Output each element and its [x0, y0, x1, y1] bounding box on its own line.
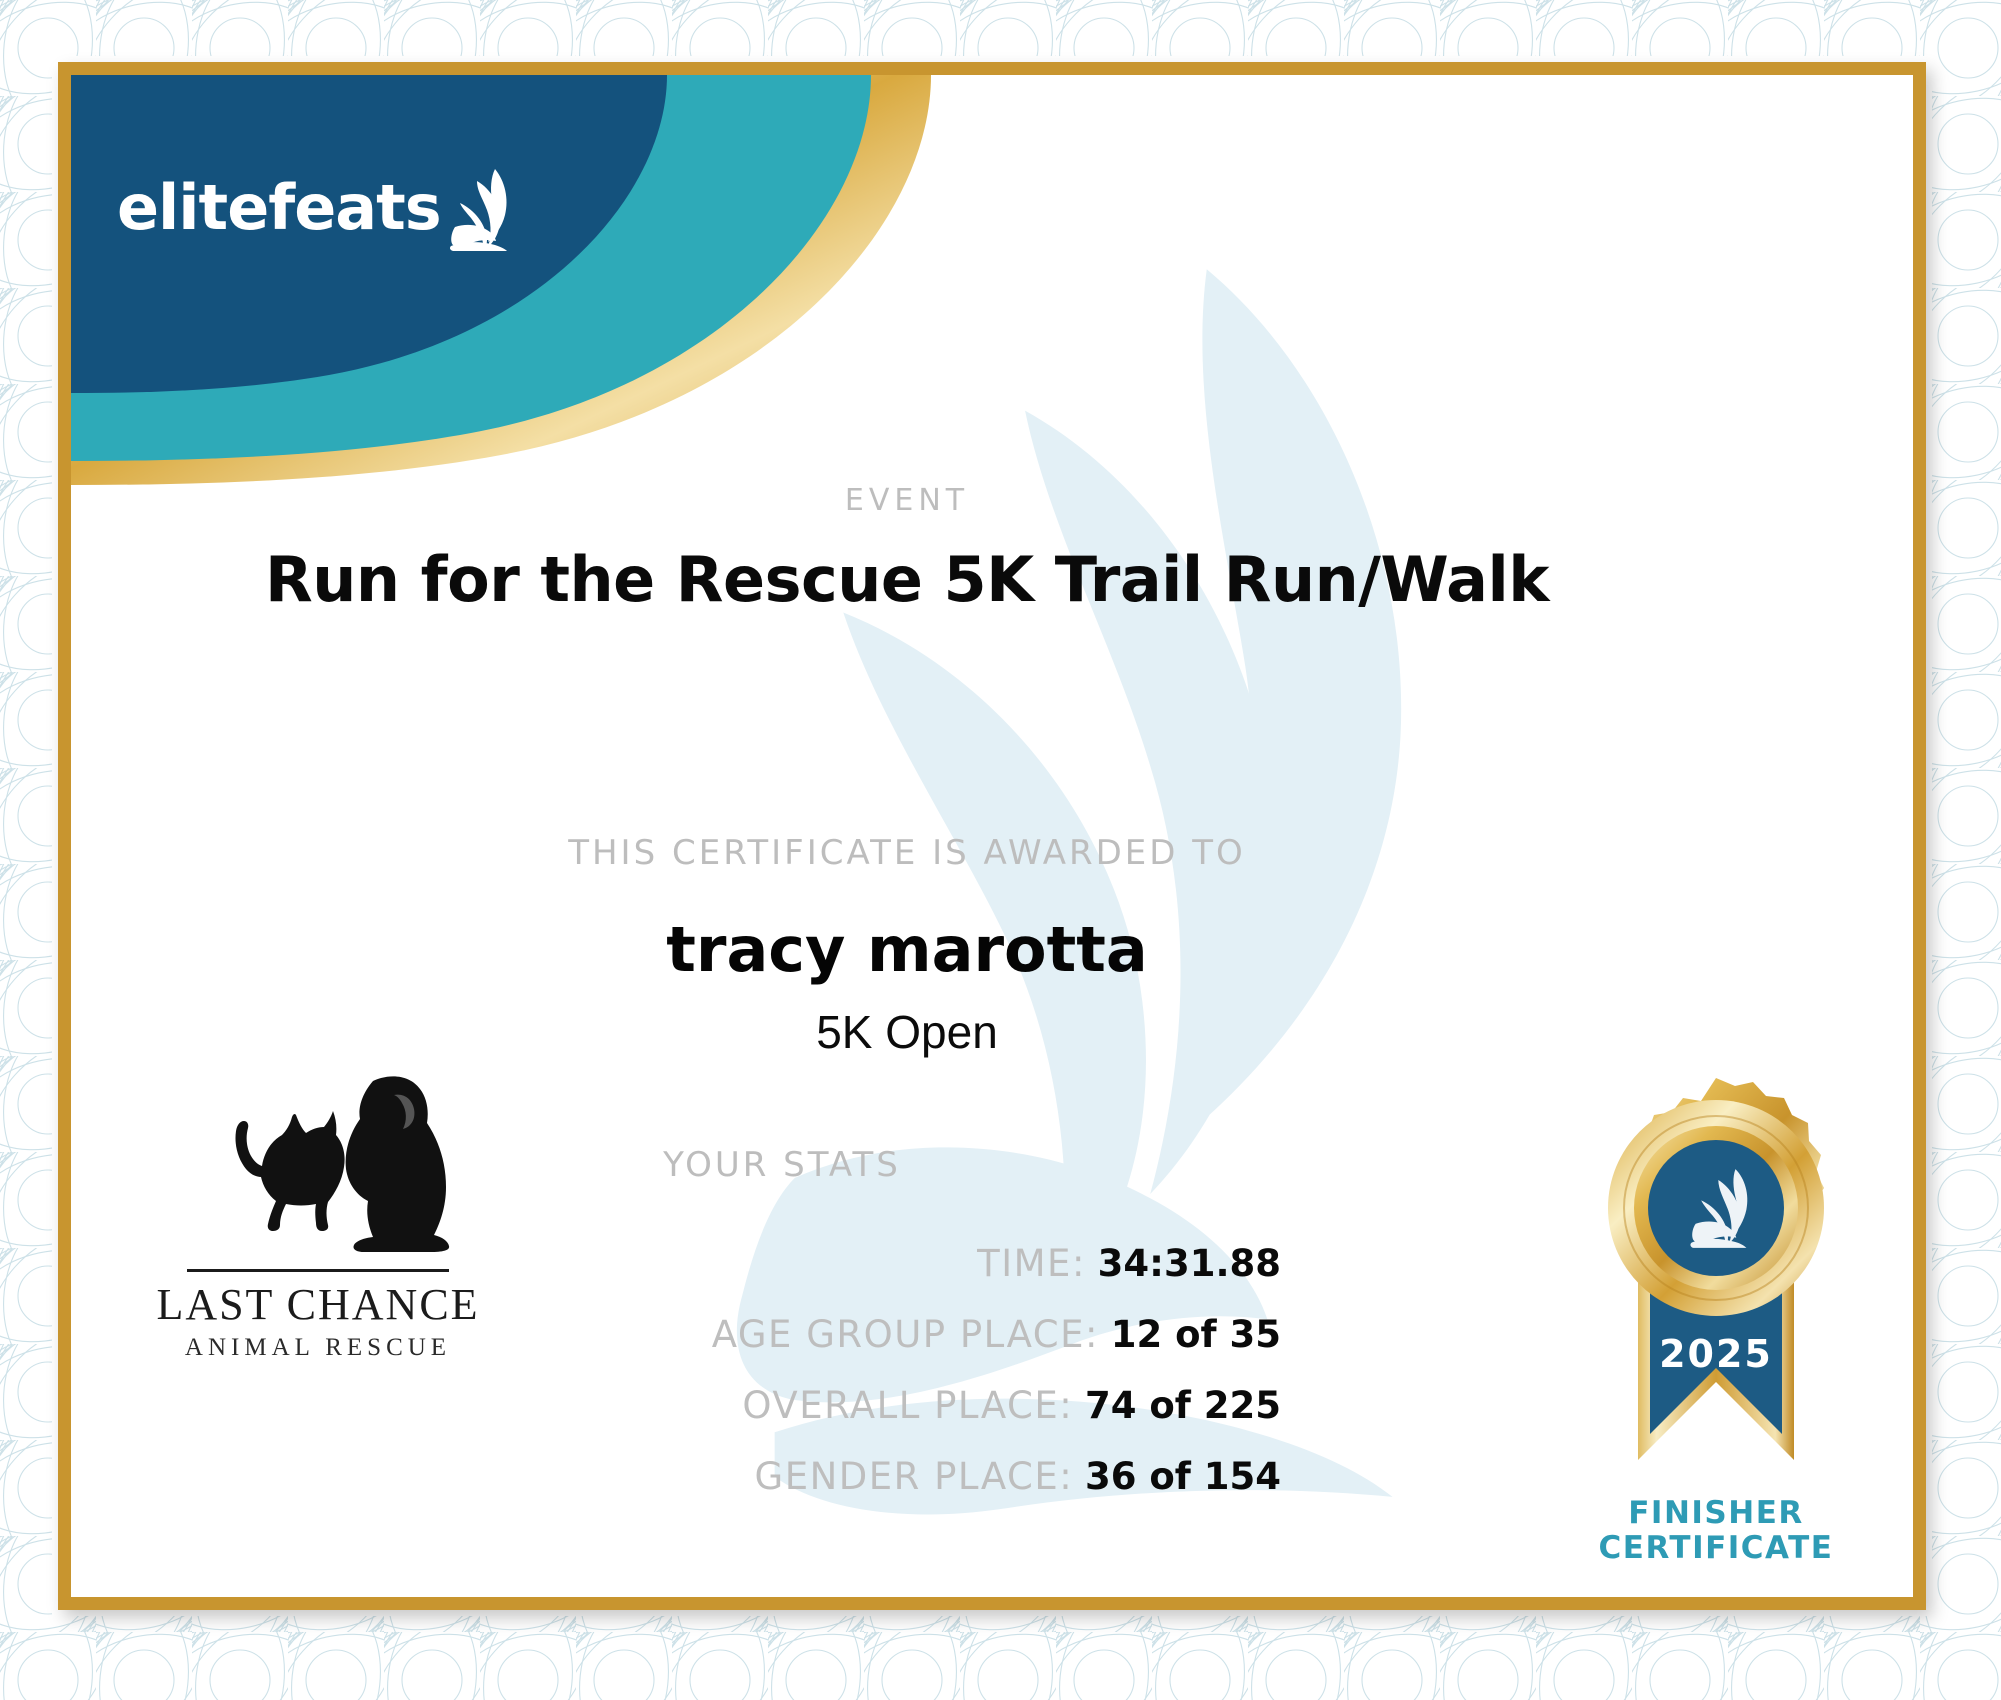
gold-medal-rosette-icon: [1551, 1060, 1881, 1480]
stat-row-time: TIME: 34:31.88: [371, 1245, 1281, 1282]
sponsor-subtitle: ANIMAL RESCUE: [153, 1334, 483, 1362]
stat-row-gender-place: GENDER PLACE: 36 of 154: [371, 1458, 1281, 1495]
sponsor-logo: LAST CHANCE ANIMAL RESCUE: [153, 1065, 483, 1362]
sponsor-divider: [187, 1269, 449, 1272]
stat-value: 36 of 154: [1085, 1455, 1281, 1498]
awarded-to-label: THIS CERTIFICATE IS AWARDED TO: [71, 833, 1913, 873]
badge-caption-line1: FINISHER: [1551, 1496, 1881, 1531]
stat-row-overall-place: OVERALL PLACE: 74 of 225: [371, 1387, 1281, 1424]
badge-caption-line2: CERTIFICATE: [1551, 1531, 1881, 1566]
stats-list: TIME: 34:31.88 AGE GROUP PLACE: 12 of 35…: [371, 1245, 1281, 1529]
stat-key: TIME:: [977, 1242, 1086, 1285]
stat-key: AGE GROUP PLACE:: [712, 1313, 1099, 1356]
event-label: EVENT: [71, 483, 1913, 518]
finisher-badge: 2025 FINISHER CERTIFICATE: [1551, 1060, 1881, 1565]
sponsor-name: LAST CHANCE: [153, 1282, 483, 1328]
badge-caption: FINISHER CERTIFICATE: [1551, 1496, 1881, 1565]
cat-and-dog-silhouette-icon: [153, 1065, 483, 1265]
stat-key: GENDER PLACE:: [755, 1455, 1074, 1498]
event-title: Run for the Rescue 5K Trail Run/Walk: [71, 543, 1913, 616]
stat-key: OVERALL PLACE:: [742, 1384, 1073, 1427]
recipient-name: tracy marotta: [71, 913, 1913, 986]
division-name: 5K Open: [71, 1005, 1913, 1059]
stat-value: 34:31.88: [1098, 1242, 1281, 1285]
stat-row-age-group-place: AGE GROUP PLACE: 12 of 35: [371, 1316, 1281, 1353]
stat-value: 12 of 35: [1111, 1313, 1281, 1356]
certificate-page: elitefeats EVENT Ru: [0, 0, 2001, 1700]
stat-value: 74 of 225: [1085, 1384, 1281, 1427]
certificate-card: elitefeats EVENT Ru: [58, 62, 1926, 1610]
badge-year: 2025: [1551, 1332, 1881, 1376]
